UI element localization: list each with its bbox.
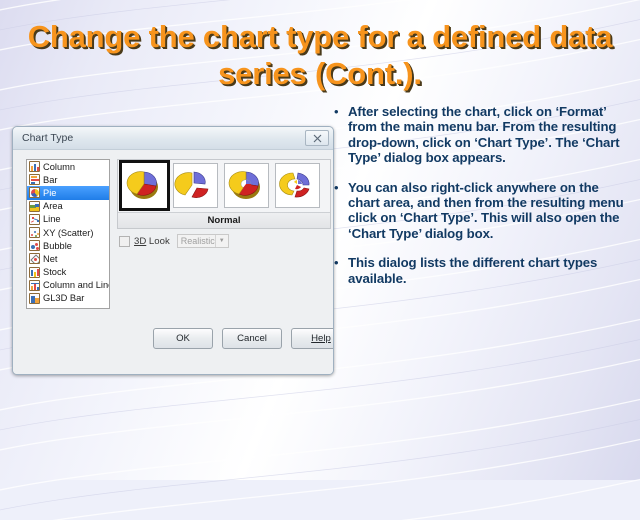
line-chart-icon (29, 214, 40, 225)
bullet-text: You can also right-click anywhere on the… (348, 180, 632, 242)
list-item-stock[interactable]: Stock (27, 266, 109, 279)
list-item-label: XY (Scatter) (43, 228, 93, 238)
help-button-label: Help (311, 333, 331, 344)
list-item-column[interactable]: Column (27, 160, 109, 173)
list-item-label: Column and Line (43, 280, 110, 290)
three-d-look-row: 3D Look Realistic ▼ (119, 234, 229, 248)
list-item-pie[interactable]: Pie (27, 186, 109, 199)
scatter-chart-icon (29, 227, 40, 238)
close-glyph (313, 134, 322, 143)
list-item: • You can also right-click anywhere on t… (332, 180, 632, 242)
dialog-button-row: OK Cancel Help (153, 328, 334, 349)
list-item-label: Stock (43, 267, 66, 277)
gl3d-bar-icon (29, 293, 40, 304)
list-item-area[interactable]: Area (27, 200, 109, 213)
list-item-label: Area (43, 201, 63, 211)
variant-pie-exploded[interactable] (173, 163, 218, 208)
area-chart-icon (29, 201, 40, 212)
pie-normal-icon (123, 164, 166, 204)
donut-normal-icon (225, 164, 268, 204)
list-item-xy-scatter[interactable]: XY (Scatter) (27, 226, 109, 239)
page-title: Change the chart type for a defined data… (0, 18, 640, 92)
chart-type-list[interactable]: Column Bar Pie (26, 159, 110, 309)
dialog-title: Chart Type (22, 132, 305, 144)
variant-donut-exploded[interactable] (275, 163, 320, 208)
dialog-body: Column Bar Pie (13, 150, 333, 375)
bullet-text: This dialog lists the different chart ty… (348, 255, 632, 286)
list-item-line[interactable]: Line (27, 213, 109, 226)
list-item-label: Column (43, 162, 75, 172)
close-icon[interactable] (305, 130, 329, 146)
column-chart-icon (29, 161, 40, 172)
dialog-titlebar[interactable]: Chart Type (13, 127, 333, 150)
cancel-button[interactable]: Cancel (222, 328, 282, 349)
list-item-label: Bar (43, 175, 57, 185)
bar-chart-icon (29, 174, 40, 185)
bullet-text: After selecting the chart, click on ‘For… (348, 104, 632, 166)
stock-chart-icon (29, 267, 40, 278)
list-item-label: Line (43, 214, 61, 224)
donut-exploded-icon (276, 164, 319, 204)
three-d-look-select-value: Realistic (181, 236, 215, 246)
pie-chart-icon (29, 187, 40, 198)
three-d-look-label: 3D Look (134, 236, 170, 247)
chart-type-dialog: Chart Type Column (12, 126, 334, 375)
chevron-down-icon: ▼ (215, 235, 228, 247)
pie-exploded-icon (174, 164, 217, 204)
list-item: • This dialog lists the different chart … (332, 255, 632, 286)
three-d-look-accel: 3D (134, 236, 146, 247)
net-chart-icon (29, 253, 40, 264)
variant-label: Normal (118, 212, 330, 228)
variant-donut-normal[interactable] (224, 163, 269, 208)
bullet-marker: • (332, 180, 348, 242)
three-d-look-checkbox[interactable] (119, 236, 130, 247)
three-d-look-rest: Look (146, 236, 169, 247)
bubble-chart-icon (29, 240, 40, 251)
list-item-net[interactable]: Net (27, 252, 109, 265)
list-item-bubble[interactable]: Bubble (27, 239, 109, 252)
list-item-label: Pie (43, 188, 56, 198)
list-item-label: Net (43, 254, 57, 264)
column-and-line-icon (29, 280, 40, 291)
bullet-marker: • (332, 104, 348, 166)
list-item: • After selecting the chart, click on ‘F… (332, 104, 632, 166)
variant-thumbnails (118, 160, 330, 208)
list-item-label: GL3D Bar (43, 293, 84, 303)
list-item-gl3d-bar[interactable]: GL3D Bar (27, 292, 109, 305)
list-item-column-and-line[interactable]: Column and Line (27, 279, 109, 292)
ok-button[interactable]: OK (153, 328, 213, 349)
help-button[interactable]: Help (291, 328, 334, 349)
three-d-look-select[interactable]: Realistic ▼ (177, 234, 229, 248)
bullet-list: • After selecting the chart, click on ‘F… (332, 104, 632, 300)
chart-variant-preview: Normal (117, 159, 331, 229)
bullet-marker: • (332, 255, 348, 286)
list-item-bar[interactable]: Bar (27, 173, 109, 186)
list-item-label: Bubble (43, 241, 72, 251)
variant-pie-normal[interactable] (122, 163, 167, 208)
